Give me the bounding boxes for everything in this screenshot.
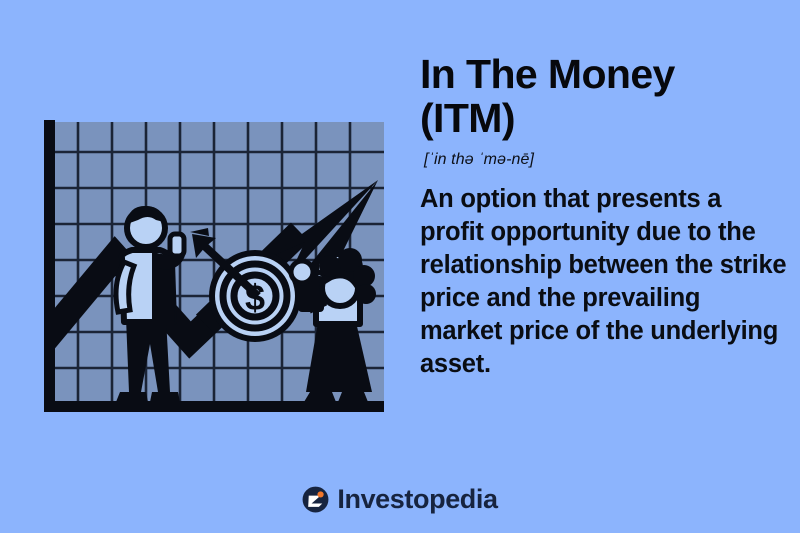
pronunciation: [ˈin thə ˈmə-nē] (424, 151, 788, 169)
footer-brand: Investopedia (0, 486, 800, 513)
definition-text: An option that presents a profit opportu… (420, 183, 788, 382)
illustration: $ (0, 0, 400, 470)
definition-card: $ (0, 0, 800, 533)
investopedia-wordmark: Investopedia (337, 486, 497, 513)
term-abbreviation: (ITM) (420, 95, 515, 141)
term-title: In The Money(ITM) (420, 52, 788, 141)
text-column: In The Money(ITM) [ˈin thə ˈmə-nē] An op… (420, 52, 788, 381)
investopedia-logo-icon (302, 486, 329, 513)
term-name: In The Money (420, 51, 675, 97)
